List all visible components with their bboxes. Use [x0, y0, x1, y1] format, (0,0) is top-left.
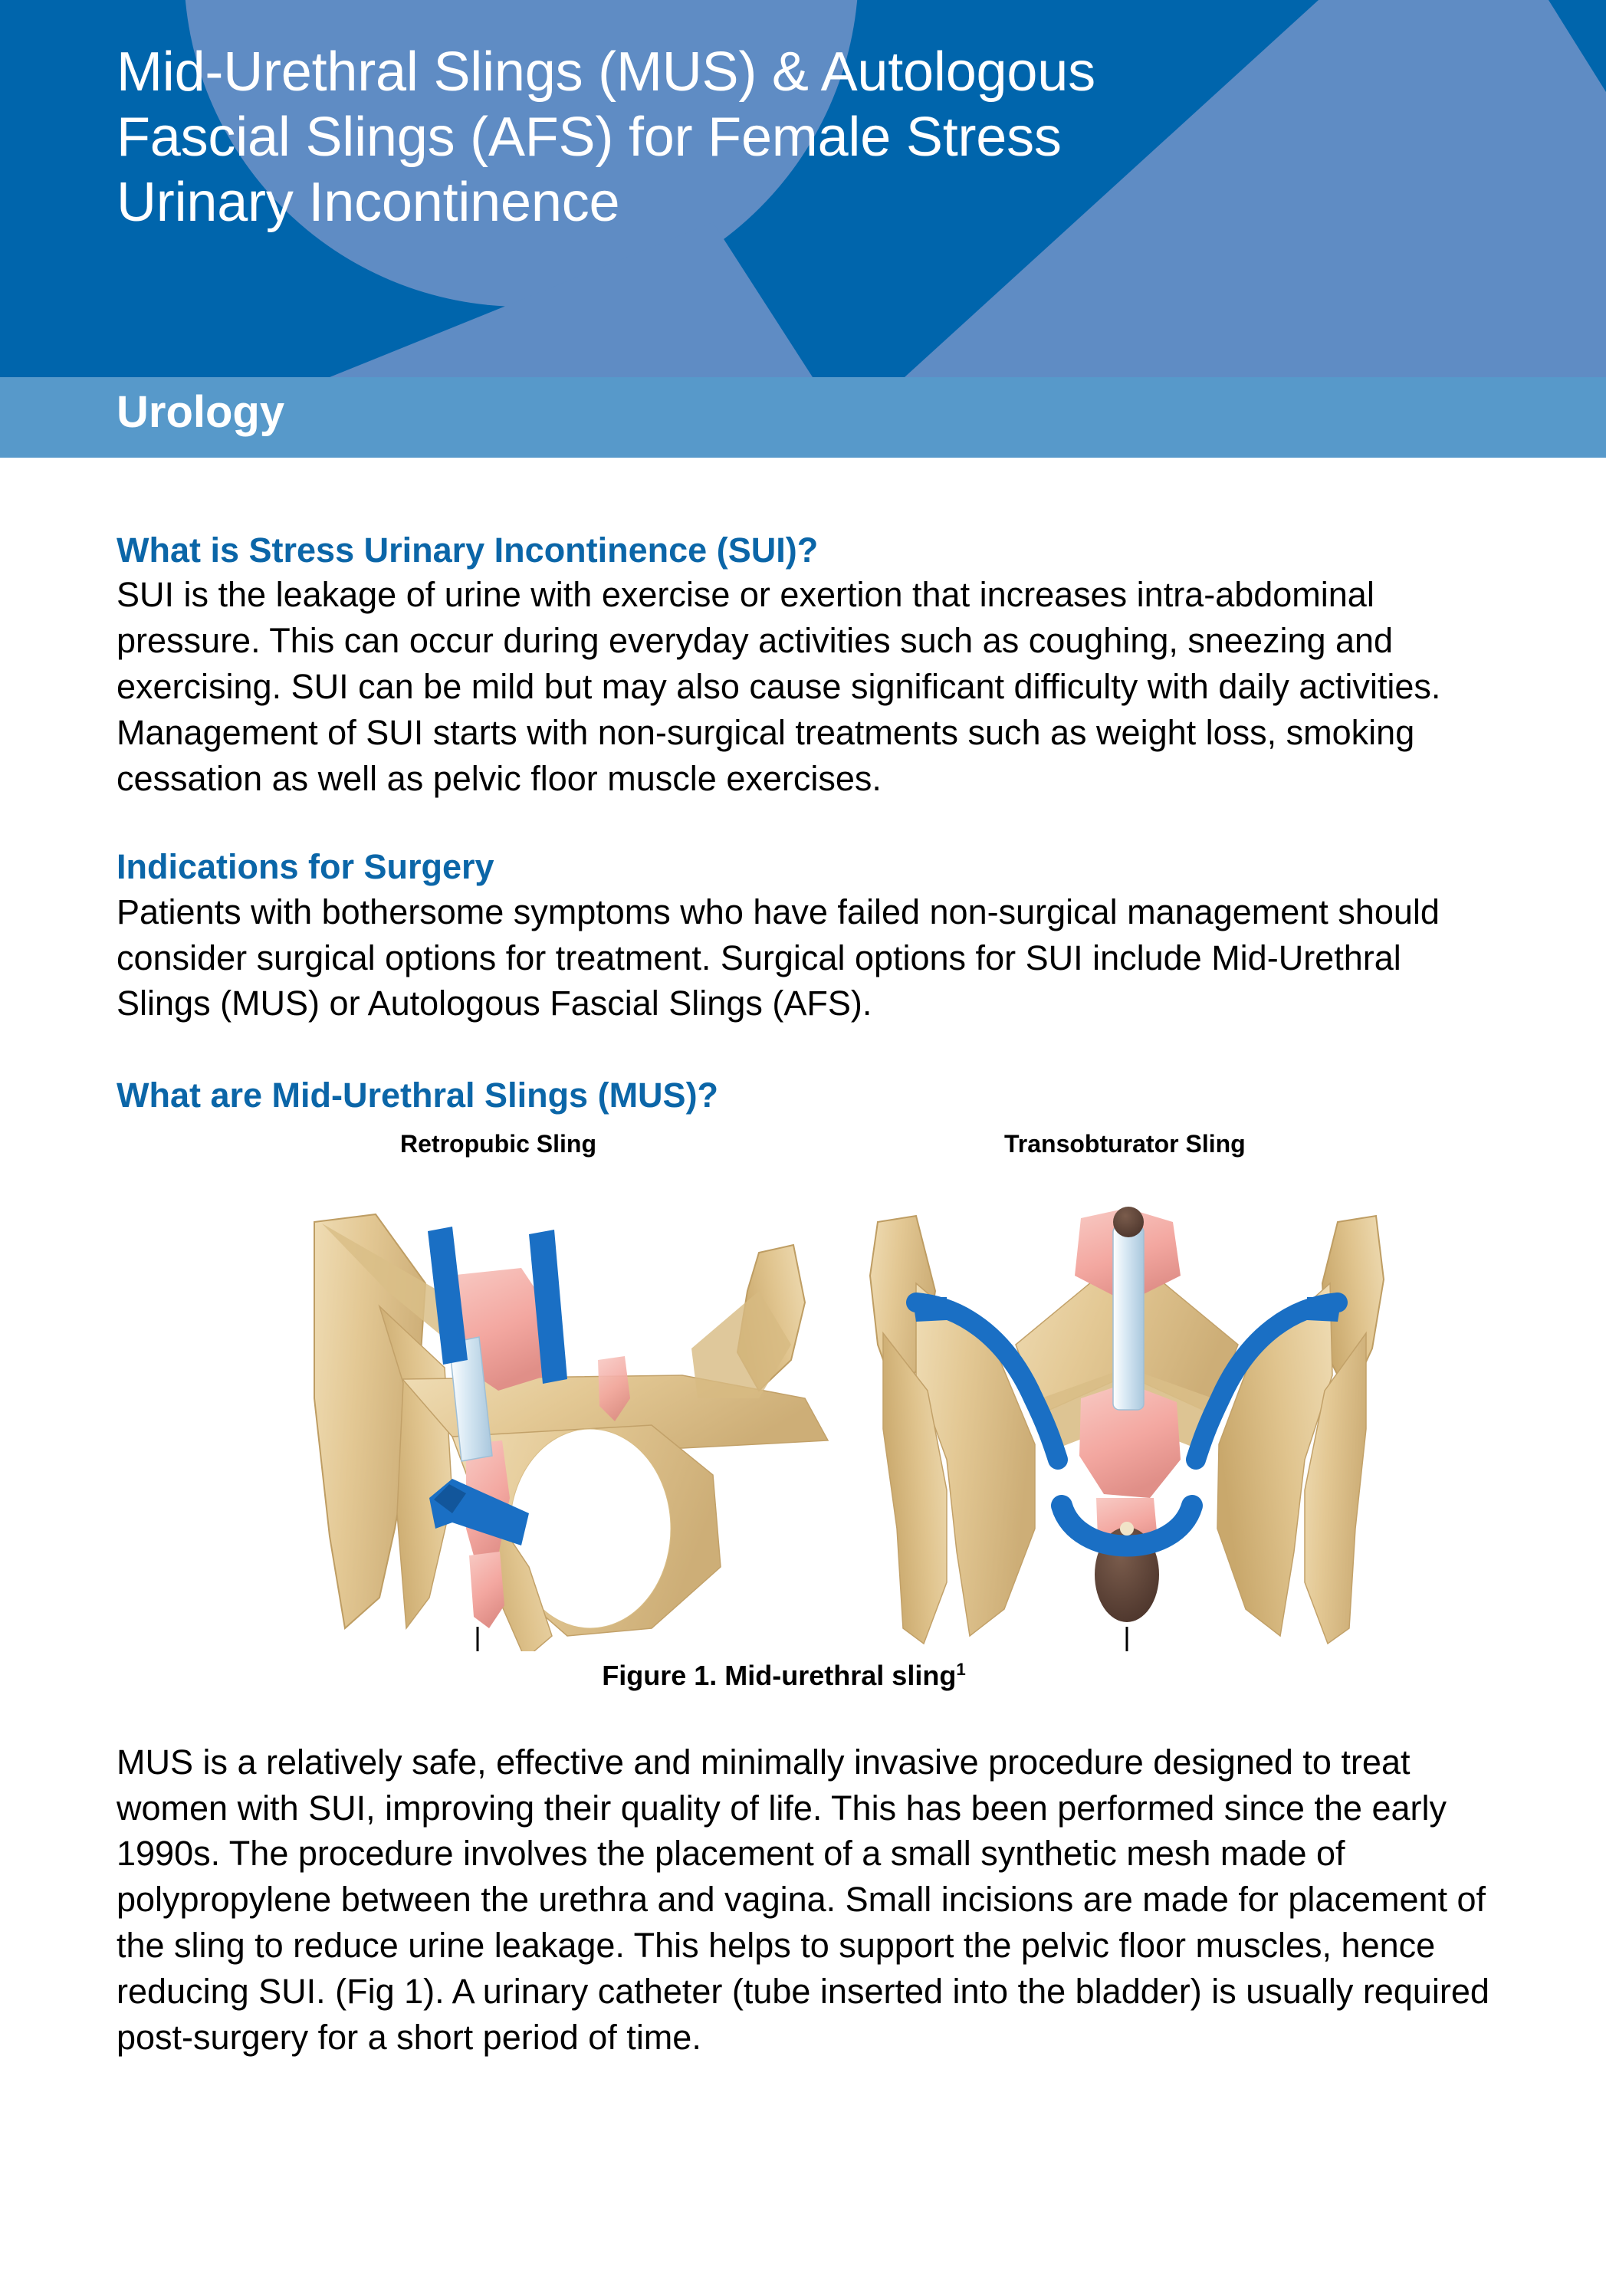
page-title: Mid-Urethral Slings (MUS) & Autologous F…: [117, 40, 1496, 235]
specialty-label: Urology: [117, 390, 284, 435]
page-header: Mid-Urethral Slings (MUS) & Autologous F…: [0, 0, 1606, 377]
document-page: Mid-Urethral Slings (MUS) & Autologous F…: [0, 0, 1606, 2296]
figure-illustration: Vagina: [222, 1168, 1430, 1651]
section-heading: What is Stress Urinary Incontinence (SUI…: [117, 529, 1489, 572]
section-heading: What are Mid-Urethral Slings (MUS)?: [117, 1074, 1489, 1117]
figure-sub-labels: Retropubic Sling Transobturator Sling: [222, 1132, 1430, 1168]
section-indications-for-surgery: Indications for Surgery Patients with bo…: [117, 801, 1489, 1026]
illustration-retropubic-sling: Vagina: [314, 1214, 828, 1651]
figure-1: Retropubic Sling Transobturator Sling: [222, 1132, 1430, 1692]
section-sui-definition: What is Stress Urinary Incontinence (SUI…: [117, 458, 1489, 801]
document-body: What is Stress Urinary Incontinence (SUI…: [0, 458, 1606, 2061]
section-heading: Indications for Surgery: [117, 846, 1489, 889]
illustration-transobturator-sling: Vagina: [870, 1207, 1384, 1651]
figure-caption-text: Figure 1. Mid-urethral sling: [602, 1660, 956, 1691]
figure-caption: Figure 1. Mid-urethral sling1: [222, 1659, 1430, 1692]
figure-caption-superscript: 1: [956, 1660, 965, 1679]
figure-label-transobturator-sling: Transobturator Sling: [1004, 1132, 1246, 1156]
section-paragraph: SUI is the leakage of urine with exercis…: [117, 572, 1489, 801]
catheter: [1113, 1226, 1144, 1410]
section-paragraph: Patients with bothersome symptoms who ha…: [117, 889, 1489, 1027]
section-mus-description: MUS is a relatively safe, effective and …: [117, 1692, 1489, 2061]
figure-label-retropubic-sling: Retropubic Sling: [400, 1132, 596, 1156]
header-right-sliver: [1549, 0, 1606, 92]
section-what-are-mus: What are Mid-Urethral Slings (MUS)?: [117, 1026, 1489, 1117]
header-triangle-wedge: [330, 222, 813, 377]
specialty-band: Urology: [0, 377, 1606, 458]
section-paragraph: MUS is a relatively safe, effective and …: [117, 1739, 1489, 2061]
